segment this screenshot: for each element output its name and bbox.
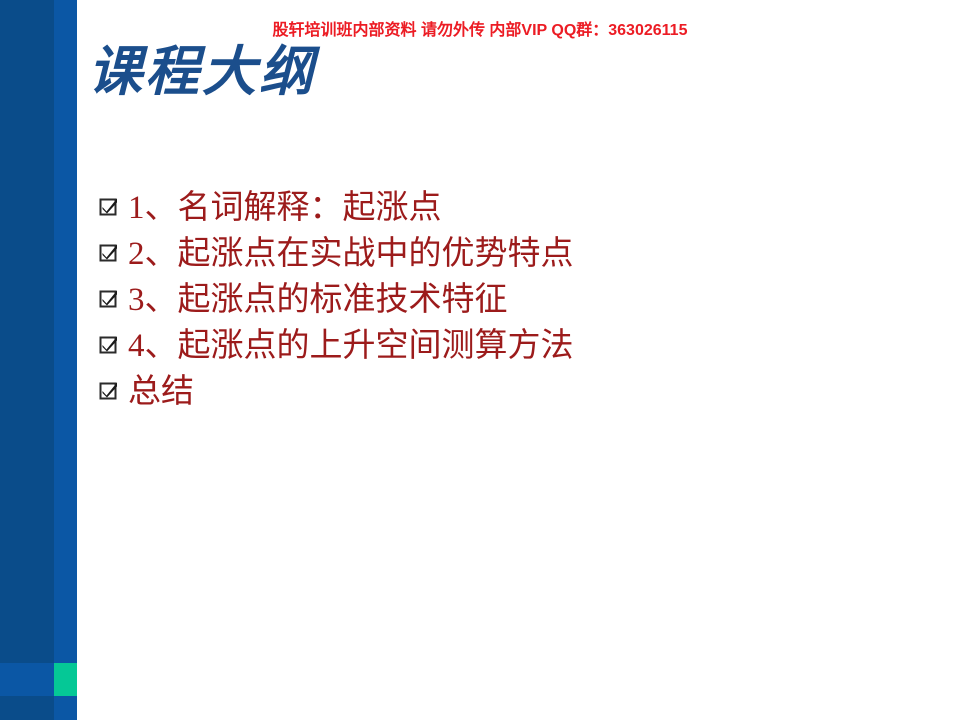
sidebar-dark-blue-band [0, 0, 54, 720]
sidebar-green-accent-square [54, 663, 77, 696]
list-item: 4、起涨点的上升空间测算方法 [98, 324, 918, 370]
checkbox-checked-icon [98, 196, 120, 218]
slide-title: 课程大纲 [88, 44, 316, 101]
list-item: 3、起涨点的标准技术特征 [98, 278, 918, 324]
list-item-label: 3、起涨点的标准技术特征 [128, 278, 508, 322]
checkbox-checked-icon [98, 334, 120, 356]
list-item: 2、起涨点在实战中的优势特点 [98, 232, 918, 278]
presentation-slide: 股轩培训班内部资料 请勿外传 内部VIP QQ群：363026115 课程大纲 … [0, 0, 960, 720]
slide-left-sidebar [0, 0, 77, 720]
list-item-label: 4、起涨点的上升空间测算方法 [128, 324, 574, 368]
list-item-label: 1、名词解释：起涨点 [128, 186, 442, 230]
slide-empty-content-area [77, 430, 960, 720]
list-item-label: 总结 [128, 370, 194, 414]
sidebar-lower-blue-block [0, 663, 54, 696]
sidebar-light-band-footer [54, 696, 77, 720]
list-item: 1、名词解释：起涨点 [98, 186, 918, 232]
checkbox-checked-icon [98, 380, 120, 402]
checkbox-checked-icon [98, 288, 120, 310]
slide-bullet-list: 1、名词解释：起涨点 2、起涨点在实战中的优势特点 3、起涨点的标准技术特征 [98, 186, 918, 416]
sidebar-light-blue-band [54, 0, 77, 720]
list-item: 总结 [98, 370, 918, 416]
list-item-label: 2、起涨点在实战中的优势特点 [128, 232, 574, 276]
header-watermark-note: 股轩培训班内部资料 请勿外传 内部VIP QQ群：363026115 [0, 16, 960, 40]
checkbox-checked-icon [98, 242, 120, 264]
